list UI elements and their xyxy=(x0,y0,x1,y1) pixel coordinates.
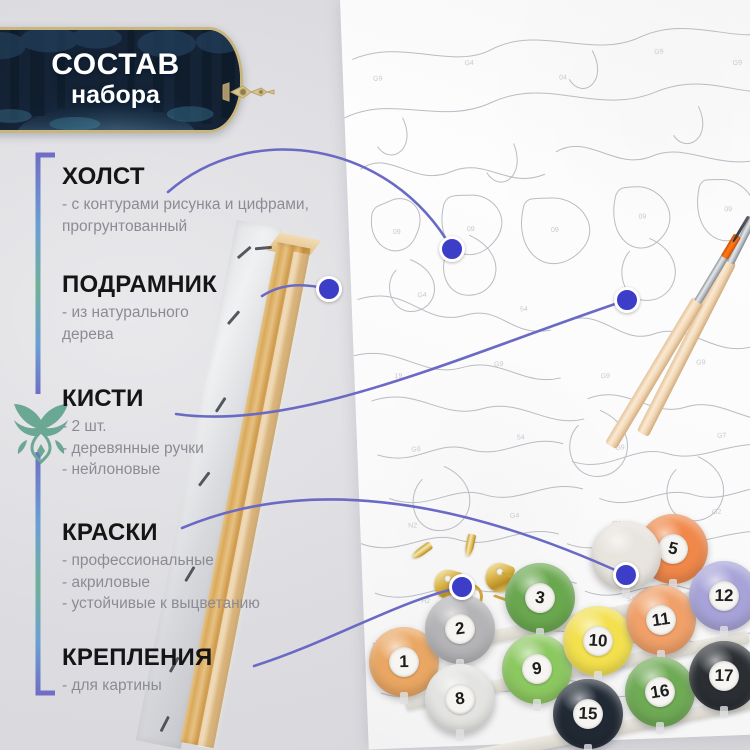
paint-pot-nub xyxy=(584,744,592,750)
feature-title: ХОЛСТ xyxy=(62,164,309,189)
paint-pot: 15 xyxy=(553,679,623,749)
feature-stretcher: ПОДРАМНИК - из натурального дерева xyxy=(62,272,217,345)
feature-desc-line: - для картины xyxy=(62,675,212,696)
paint-pot-nub xyxy=(720,706,728,718)
feature-desc-line: - деревянные ручки xyxy=(62,438,204,459)
feature-mounts: КРЕПЛЕНИЯ - для картины xyxy=(62,645,212,697)
paint-pot-nub xyxy=(656,722,664,734)
callout-marker-paints[interactable] xyxy=(613,562,639,588)
feature-title: КРАСКИ xyxy=(62,520,260,545)
paint-pot-nub xyxy=(456,729,464,741)
banner-finial-ornament xyxy=(221,75,279,109)
svg-text:54: 54 xyxy=(520,306,528,313)
svg-text:G7: G7 xyxy=(717,432,727,439)
callout-marker-brushes[interactable] xyxy=(614,287,640,313)
feature-canvas: ХОЛСТ - с контурами рисунка и цифрами, п… xyxy=(62,164,309,237)
svg-text:G9: G9 xyxy=(654,49,664,56)
feature-title: КРЕПЛЕНИЯ xyxy=(62,645,212,670)
callout-marker-mounts[interactable] xyxy=(449,574,475,600)
feature-desc-line: прогрунтованный xyxy=(62,216,309,237)
paint-pot: 10 xyxy=(563,606,633,676)
svg-text:G4: G4 xyxy=(464,60,474,67)
svg-text:G9: G9 xyxy=(601,373,611,380)
feature-title: КИСТИ xyxy=(62,386,204,411)
svg-text:G9: G9 xyxy=(733,60,743,67)
svg-text:09: 09 xyxy=(551,227,559,234)
feature-brushes: КИСТИ - 2 шт. - деревянные ручки - нейло… xyxy=(62,386,204,480)
paint-pot-nub xyxy=(400,692,408,704)
svg-text:G2: G2 xyxy=(712,509,722,516)
svg-text:09: 09 xyxy=(393,229,401,236)
paint-pot: 2 xyxy=(425,594,495,664)
paint-pot: 12 xyxy=(689,561,750,631)
banner-header: СОСТАВ набора xyxy=(0,27,243,133)
svg-text:G9: G9 xyxy=(494,361,504,368)
paint-pot: 8 xyxy=(425,664,495,734)
svg-text:G4: G4 xyxy=(510,512,520,519)
svg-text:G4: G4 xyxy=(417,292,427,299)
paint-pot: 3 xyxy=(505,563,575,633)
svg-text:04: 04 xyxy=(559,74,567,81)
callout-marker-canvas[interactable] xyxy=(439,236,465,262)
feature-desc-line: - акриловые xyxy=(62,572,260,593)
svg-text:09: 09 xyxy=(724,206,732,213)
feature-desc-line: - нейлоновые xyxy=(62,459,204,480)
paint-pot: 11 xyxy=(626,585,696,655)
svg-text:09: 09 xyxy=(638,213,646,220)
svg-text:H2: H2 xyxy=(421,598,430,605)
feature-desc-line: дерева xyxy=(62,324,217,345)
banner-title-line2: набора xyxy=(71,82,160,110)
svg-text:19: 19 xyxy=(394,373,402,380)
feature-title: ПОДРАМНИК xyxy=(62,272,217,297)
svg-text:54: 54 xyxy=(517,434,525,441)
feature-desc-line: - 2 шт. xyxy=(62,416,204,437)
feature-desc-line: - с контурами рисунка и цифрами, xyxy=(62,194,309,215)
feature-desc-line: - из натурального xyxy=(62,302,217,323)
svg-text:N2: N2 xyxy=(408,522,417,529)
feature-desc-line: - профессиональные xyxy=(62,550,260,571)
feature-desc-line: - устойчивые к выцветанию xyxy=(62,593,260,614)
feature-paints: КРАСКИ - профессиональные - акриловые - … xyxy=(62,520,260,614)
paint-pot: 16 xyxy=(625,657,695,727)
svg-text:G9: G9 xyxy=(411,446,421,453)
paint-pot: 17 xyxy=(689,641,750,711)
product-infographic: G9G404 G9G9 090909 0909 G454G9 04 19G9G9… xyxy=(0,0,750,750)
svg-text:G9: G9 xyxy=(696,359,706,366)
svg-text:G9: G9 xyxy=(373,75,383,82)
svg-text:09: 09 xyxy=(467,226,475,233)
banner-title-line1: СОСТАВ xyxy=(51,50,180,80)
paint-pot-nub xyxy=(720,626,728,638)
banner-plate: СОСТАВ набора xyxy=(0,27,243,133)
paint-pot-nub xyxy=(533,699,541,711)
callout-marker-stretcher[interactable] xyxy=(316,276,342,302)
